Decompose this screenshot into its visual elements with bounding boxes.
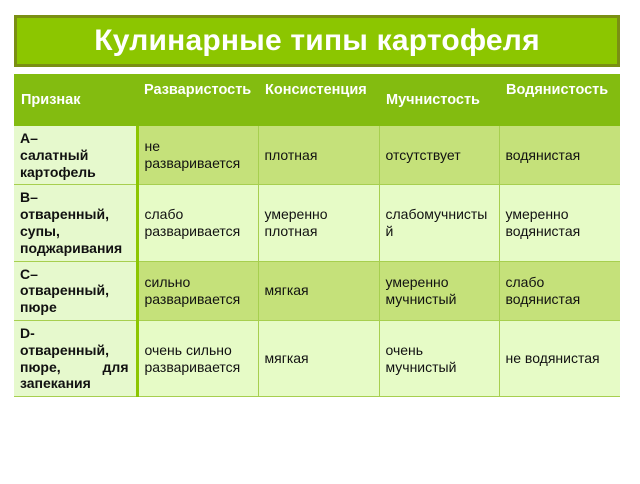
cell-vodyanistost-c: слабо водянистая: [499, 261, 620, 320]
cell-vodyanistost-a: водянистая: [499, 126, 620, 185]
column-header-razvaristost: Разваристость: [137, 74, 258, 126]
feature-code-b: B: [20, 189, 30, 205]
cell-feature-a: A– салатный картофель: [14, 126, 137, 185]
feature-code-c: C: [20, 266, 30, 282]
column-header-priznak: Признак: [14, 74, 137, 126]
feature-desc-a: салатный картофель: [20, 147, 129, 181]
potato-types-table-container: Признак Разваристость Консистенция Мучни…: [14, 74, 620, 484]
cell-konsistenciya-b: умеренно плотная: [258, 185, 379, 261]
feature-dash-c: –: [30, 266, 38, 282]
table-body: A– салатный картофель не разваривается п…: [14, 126, 620, 397]
cell-feature-c: C– отваренный, пюре: [14, 261, 137, 320]
column-header-vodyanistost: Водянистость: [499, 74, 620, 126]
cell-vodyanistost-b: умеренно водянистая: [499, 185, 620, 261]
cell-razvaristost-b: слабо разваривается: [137, 185, 258, 261]
table-row: C– отваренный, пюре сильно разваривается…: [14, 261, 620, 320]
feature-desc-c: отваренный, пюре: [20, 282, 129, 316]
cell-konsistenciya-a: плотная: [258, 126, 379, 185]
cell-konsistenciya-d: мягкая: [258, 320, 379, 396]
cell-muchnistost-d: очень мучнистый: [379, 320, 499, 396]
feature-code-a: A: [20, 130, 30, 146]
feature-code-d: D: [20, 325, 30, 341]
table-header-row: Признак Разваристость Консистенция Мучни…: [14, 74, 620, 126]
table-row: A– салатный картофель не разваривается п…: [14, 126, 620, 185]
page-title: Кулинарные типы картофеля: [94, 26, 540, 56]
column-header-konsistenciya: Консистенция: [258, 74, 379, 126]
page-title-banner: Кулинарные типы картофеля: [14, 15, 620, 67]
cell-muchnistost-a: отсутствует: [379, 126, 499, 185]
potato-types-table: Признак Разваристость Консистенция Мучни…: [14, 74, 620, 397]
table-row: B– отваренный, супы, поджаривания слабо …: [14, 185, 620, 261]
feature-desc-b: отваренный, супы, поджаривания: [20, 206, 129, 256]
column-header-muchnistost: Мучнистость: [379, 74, 499, 126]
feature-dash-d: -: [30, 325, 35, 341]
cell-muchnistost-b: слабомучнистый: [379, 185, 499, 261]
cell-muchnistost-c: умеренно мучнистый: [379, 261, 499, 320]
cell-razvaristost-a: не разваривается: [137, 126, 258, 185]
cell-vodyanistost-d: не водянистая: [499, 320, 620, 396]
cell-razvaristost-d: очень сильно разваривается: [137, 320, 258, 396]
cell-konsistenciya-c: мягкая: [258, 261, 379, 320]
cell-razvaristost-c: сильно разваривается: [137, 261, 258, 320]
feature-dash-b: –: [30, 189, 38, 205]
cell-feature-d: D- отваренный, пюре, для запекания: [14, 320, 137, 396]
feature-dash-a: –: [30, 130, 38, 146]
cell-feature-b: B– отваренный, супы, поджаривания: [14, 185, 137, 261]
feature-desc-d: отваренный, пюре, для запекания: [20, 342, 129, 392]
table-header: Признак Разваристость Консистенция Мучни…: [14, 74, 620, 126]
table-row: D- отваренный, пюре, для запекания очень…: [14, 320, 620, 396]
